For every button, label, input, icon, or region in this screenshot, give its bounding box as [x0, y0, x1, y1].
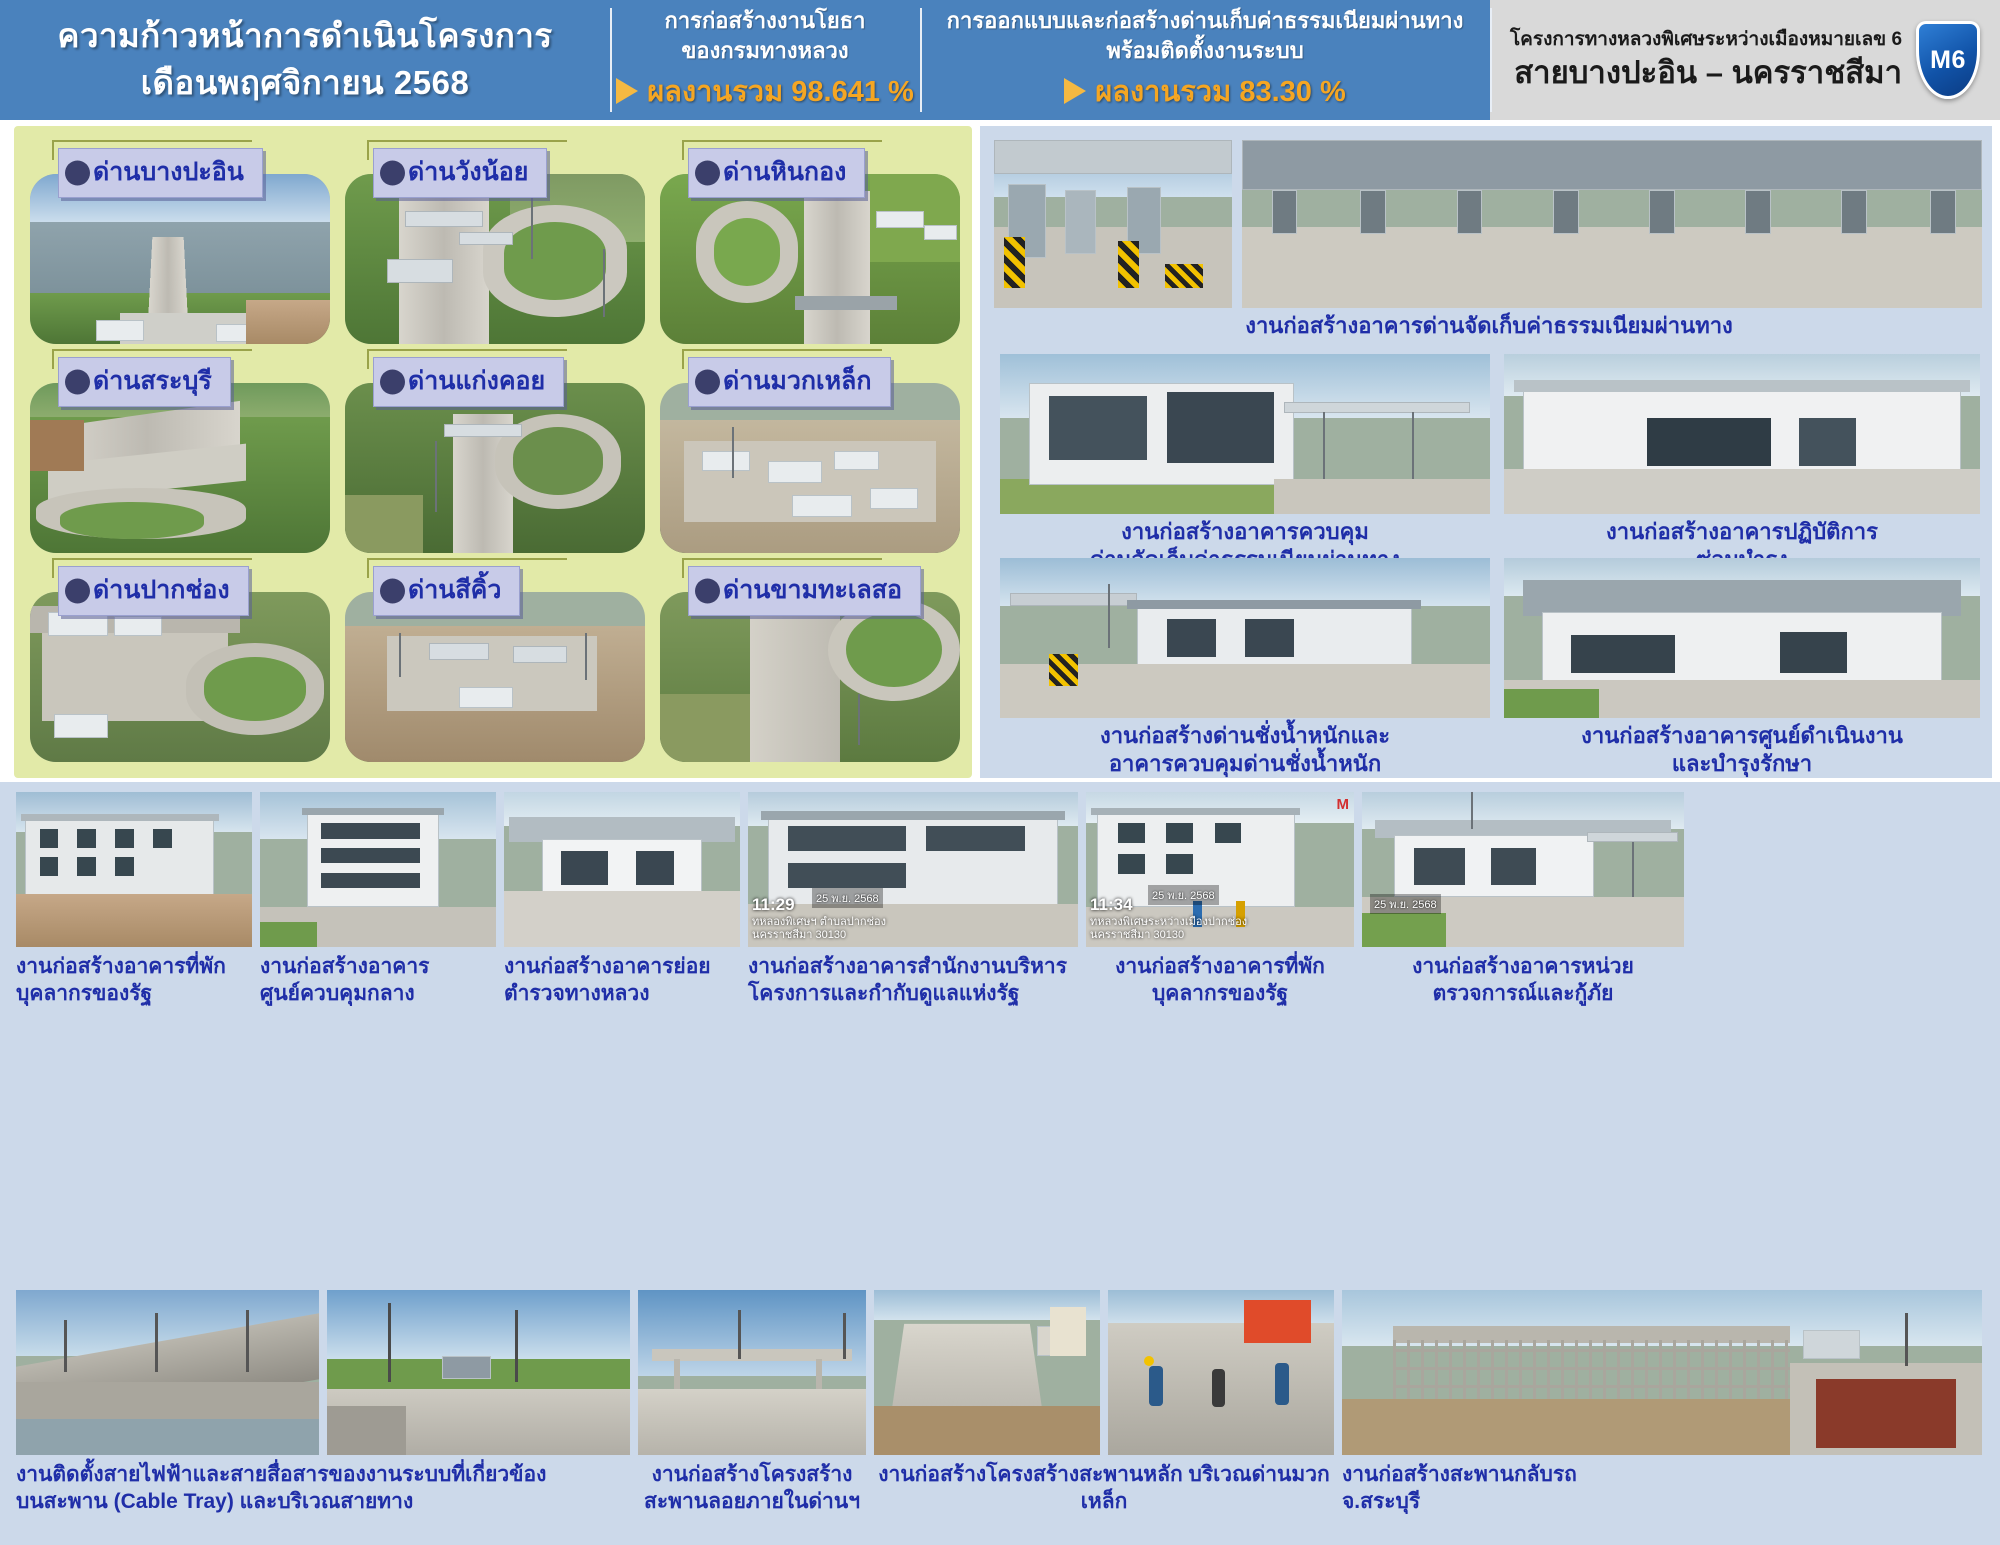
roadside-cable-photo	[327, 1290, 630, 1455]
building-item: งานก่อสร้างอาคาร ศูนย์ควบคุมกลาง	[260, 792, 496, 1008]
uturn-bridge-caption-line1: งานก่อสร้างสะพานกลับรถ	[1342, 1461, 1982, 1488]
operations-center-photo	[1504, 558, 1980, 718]
staff-housing-caption-line1: งานก่อสร้างอาคารที่พัก	[16, 953, 252, 980]
timestamp-date: 25 พ.ย. 2568	[1148, 885, 1219, 905]
stat1-value-row: ผลงานรวม 98.641 %	[616, 68, 914, 114]
bullet-dot-icon	[380, 579, 405, 604]
bullet-dot-icon	[65, 370, 90, 395]
highway-police-photo	[504, 792, 740, 947]
control-building-item: งานก่อสร้างอาคารควบคุม ด่านจัดเก็บค่าธรร…	[1000, 354, 1490, 573]
rescue-unit-caption-line2: ตรวจการณ์และกู้ภัย	[1362, 980, 1684, 1007]
central-control-caption-line2: ศูนย์ควบคุมกลาง	[260, 980, 496, 1007]
toll-gate-label: ด่านสีคิ้ว	[373, 566, 520, 616]
brand-project-line: โครงการทางหลวงพิเศษระหว่างเมืองหมายเลข 6	[1510, 27, 1902, 54]
weigh-station-photo	[1000, 558, 1490, 718]
building-item: 25 พ.ย. 2568 งานก่อสร้างอาคารหน่วย ตรวจก…	[1362, 792, 1684, 1008]
building-works-row: งานก่อสร้างอาคารที่พัก บุคลากรของรัฐ งาน…	[16, 792, 1684, 1008]
photo-pair	[874, 1290, 1334, 1455]
building-item: งานก่อสร้างอาคารที่พัก บุคลากรของรัฐ	[16, 792, 252, 1008]
toll-gate-photo	[30, 174, 330, 344]
m6-shield-icon: M6	[1916, 21, 1980, 99]
toll-gate-name: ด่านหินกอง	[723, 152, 846, 192]
bullet-dot-icon	[695, 579, 720, 604]
header-title-line1: ความก้าวหน้าการดำเนินโครงการ	[57, 13, 552, 60]
header-stat-toll-systems: การออกแบบและก่อสร้างด่านเก็บค่าธรรมเนียม…	[920, 0, 1490, 120]
uturn-bridge-photo	[1342, 1290, 1982, 1455]
overpass-caption-line2: สะพานลอยภายในด่านฯ	[638, 1488, 866, 1515]
stat1-label-line1: การก่อสร้างงานโยธา	[665, 6, 866, 36]
toll-gate-name: ด่านแก่งคอย	[408, 361, 545, 401]
brand-route-line: สายบางปะอิน – นครราชสีมา	[1510, 53, 1902, 93]
toll-gate-name: ด่านมวกเหล็ก	[723, 361, 872, 401]
building-item: M 11:34 ทหลวงพิเศษระหว่างเมืองปากช่อง นค…	[1086, 792, 1354, 1008]
stat1-value: ผลงานรวม 98.641 %	[647, 68, 914, 114]
weigh-station-caption-line1: งานก่อสร้างด่านชั่งน้ำหนักและ	[1000, 722, 1490, 750]
toll-gate-label: ด่านสระบุรี	[58, 357, 231, 407]
toll-gate-label: ด่านปากช่อง	[58, 566, 249, 616]
toll-overpass-photo	[638, 1290, 866, 1455]
photo-pair: งานก่อสร้างด่านชั่งน้ำหนักและ อาคารควบคุ…	[1000, 558, 1980, 777]
timestamp-place2: นครราชสีมา 30130	[1090, 929, 1247, 943]
header-brand-cell: โครงการทางหลวงพิเศษระหว่างเมืองหมายเลข 6…	[1490, 0, 2000, 120]
staff-housing2-caption-line1: งานก่อสร้างอาคารที่พัก	[1086, 953, 1354, 980]
toll-gate-label: ด่านบางปะอิน	[58, 148, 263, 198]
toll-gate-name: ด่านบางปะอิน	[93, 152, 244, 192]
timestamp-date: 25 พ.ย. 2568	[1370, 894, 1441, 914]
toll-building-row-2: งานก่อสร้างอาคารควบคุม ด่านจัดเก็บค่าธรร…	[1000, 354, 1980, 573]
stat1-label-line2: ของกรมทางหลวง	[681, 36, 848, 66]
staff-housing2-caption-line2: บุคลากรของรัฐ	[1086, 980, 1354, 1007]
infrastructure-works-band: งานติดตั้งสายไฟฟ้าและสายสื่อสารของงานระบ…	[0, 1282, 2000, 1545]
toll-building-panel: งานก่อสร้างอาคารด่านจัดเก็บค่าธรรมเนียมผ…	[980, 126, 1992, 778]
toll-gate-photo	[660, 592, 960, 762]
building-works-band: งานก่อสร้างอาคารที่พัก บุคลากรของรัฐ งาน…	[0, 782, 2000, 1282]
infrastructure-works-row: งานติดตั้งสายไฟฟ้าและสายสื่อสารของงานระบ…	[16, 1290, 1982, 1516]
toll-gate-cell: ด่านแก่งคอย	[345, 357, 645, 553]
toll-gate-cell: ด่านปากช่อง	[30, 566, 330, 762]
stat2-label-line1: การออกแบบและก่อสร้างด่านเก็บค่าธรรมเนียม…	[947, 6, 1464, 36]
infographic-page: ความก้าวหน้าการดำเนินโครงการ เดือนพฤศจิก…	[0, 0, 2000, 1545]
triangle-marker-icon	[616, 78, 638, 104]
timestamp-place1: ทหลวงพิเศษระหว่างเมืองปากช่อง	[1090, 916, 1247, 930]
admin-office-caption-line2: โครงการและกำกับดูแลแห่งรัฐ	[748, 980, 1078, 1007]
weigh-station-item: งานก่อสร้างด่านชั่งน้ำหนักและ อาคารควบคุ…	[1000, 558, 1490, 777]
toll-gate-photo	[660, 174, 960, 344]
uturn-bridge-caption-line2: จ.สระบุรี	[1342, 1488, 1982, 1515]
cable-tray-caption-line2: บนสะพาน (Cable Tray) และบริเวณสายทาง	[16, 1488, 630, 1515]
toll-building-row-3: งานก่อสร้างด่านชั่งน้ำหนักและ อาคารควบคุ…	[1000, 558, 1980, 777]
toll-gate-grid: ด่านบางปะอิน	[30, 148, 960, 762]
admin-office-photo: 11:29 ทหลองพิเศษฯ ตำบลปากช่อง นครราชสีมา…	[748, 792, 1078, 947]
bridge-cable-tray-photo	[16, 1290, 319, 1455]
bullet-dot-icon	[695, 370, 720, 395]
bullet-dot-icon	[380, 370, 405, 395]
toll-gate-name: ด่านวังน้อย	[408, 152, 528, 192]
toll-building-caption-1: งานก่อสร้างอาคารด่านจัดเก็บค่าธรรมเนียมผ…	[994, 312, 1984, 340]
toll-gate-cell: ด่านมวกเหล็ก	[660, 357, 960, 553]
maintenance-building-caption-line1: งานก่อสร้างอาคารปฏิบัติการ	[1504, 518, 1980, 546]
toll-gate-photo	[345, 383, 645, 553]
main-bridge-caption-line1: งานก่อสร้างโครงสร้างสะพานหลัก บริเวณด่าน…	[874, 1461, 1334, 1516]
control-building-photo	[1000, 354, 1490, 514]
rescue-unit-photo: 25 พ.ย. 2568	[1362, 792, 1684, 947]
toll-gate-photo	[30, 592, 330, 762]
staff-housing-caption-line2: บุคลากรของรัฐ	[16, 980, 252, 1007]
timestamp-time: 11:29	[752, 895, 795, 914]
toll-gate-cell: ด่านหินกอง	[660, 148, 960, 344]
maintenance-building-item: งานก่อสร้างอาคารปฏิบัติการ ซ่อมบำรุง	[1504, 354, 1980, 573]
mo-logo-icon: M	[1337, 796, 1349, 813]
uturn-bridge-item: งานก่อสร้างสะพานกลับรถ จ.สระบุรี	[1342, 1290, 1982, 1516]
rescue-unit-caption-line1: งานก่อสร้างอาคารหน่วย	[1362, 953, 1684, 980]
timestamp-time: 11:34	[1090, 895, 1133, 914]
toll-gate-photo	[345, 592, 645, 762]
toll-gate-panel: ด่านบางปะอิน	[14, 126, 972, 778]
staff-housing-photo-1	[16, 792, 252, 947]
staff-housing-photo-2: M 11:34 ทหลวงพิเศษระหว่างเมืองปากช่อง นค…	[1086, 792, 1354, 947]
highway-police-caption-line1: งานก่อสร้างอาคารย่อย	[504, 953, 740, 980]
operations-center-caption-line2: และบำรุงรักษา	[1504, 750, 1980, 778]
toll-gate-label: ด่านแก่งคอย	[373, 357, 564, 407]
toll-gate-label: ด่านหินกอง	[688, 148, 865, 198]
toll-gate-label: ด่านมวกเหล็ก	[688, 357, 891, 407]
toll-booth-photo	[994, 140, 1232, 308]
overpass-item: งานก่อสร้างโครงสร้าง สะพานลอยภายในด่านฯ	[638, 1290, 866, 1516]
header-stat-civil-works: การก่อสร้างงานโยธา ของกรมทางหลวง ผลงานรว…	[610, 0, 920, 120]
toll-gate-cell: ด่านขามทะเลสอ	[660, 566, 960, 762]
central-control-photo	[260, 792, 496, 947]
main-bridge-item: งานก่อสร้างโครงสร้างสะพานหลัก บริเวณด่าน…	[874, 1290, 1334, 1516]
bullet-dot-icon	[695, 161, 720, 186]
stat2-value: ผลงานรวม 83.30 %	[1095, 68, 1345, 114]
toll-gate-photo	[30, 383, 330, 553]
toll-gate-name: ด่านขามทะเลสอ	[723, 570, 902, 610]
central-control-caption-line1: งานก่อสร้างอาคาร	[260, 953, 496, 980]
building-item: 11:29 ทหลองพิเศษฯ ตำบลปากช่อง นครราชสีมา…	[748, 792, 1078, 1008]
highway-police-caption-line2: ตำรวจทางหลวง	[504, 980, 740, 1007]
maintenance-building-photo	[1504, 354, 1980, 514]
toll-gate-cell: ด่านสีคิ้ว	[345, 566, 645, 762]
bullet-dot-icon	[380, 161, 405, 186]
control-building-caption-line1: งานก่อสร้างอาคารควบคุม	[1000, 518, 1490, 546]
timestamp-place1: ทหลองพิเศษฯ ตำบลปากช่อง	[752, 916, 886, 930]
header-title-line2: เดือนพฤศจิกายน 2568	[141, 60, 470, 107]
toll-gate-name: ด่านปากช่อง	[93, 570, 230, 610]
toll-building-row-1: งานก่อสร้างอาคารด่านจัดเก็บค่าธรรมเนียมผ…	[994, 140, 1984, 340]
toll-plaza-photo	[1242, 140, 1982, 308]
building-item: งานก่อสร้างอาคารย่อย ตำรวจทางหลวง	[504, 792, 740, 1008]
toll-gate-label: ด่านวังน้อย	[373, 148, 547, 198]
weigh-station-caption-line2: อาคารควบคุมด่านชั่งน้ำหนัก	[1000, 750, 1490, 778]
concrete-pour-photo	[1108, 1290, 1334, 1455]
cable-tray-caption-line1: งานติดตั้งสายไฟฟ้าและสายสื่อสารของงานระบ…	[16, 1461, 630, 1488]
admin-office-caption-line1: งานก่อสร้างอาคารสำนักงานบริหาร	[748, 953, 1078, 980]
stat2-value-row: ผลงานรวม 83.30 %	[1064, 68, 1345, 114]
operations-center-item: งานก่อสร้างอาคารศูนย์ดำเนินงาน และบำรุงร…	[1504, 558, 1980, 777]
photo-pair	[994, 140, 1984, 308]
cable-tray-item: งานติดตั้งสายไฟฟ้าและสายสื่อสารของงานระบ…	[16, 1290, 630, 1516]
toll-gate-name: ด่านสระบุรี	[93, 361, 212, 401]
toll-gate-photo	[345, 174, 645, 344]
toll-gate-cell: ด่านวังน้อย	[345, 148, 645, 344]
toll-gate-cell: ด่านสระบุรี	[30, 357, 330, 553]
header-title-cell: ความก้าวหน้าการดำเนินโครงการ เดือนพฤศจิก…	[0, 0, 610, 120]
overpass-caption-line1: งานก่อสร้างโครงสร้าง	[638, 1461, 866, 1488]
timestamp-date: 25 พ.ย. 2568	[812, 888, 883, 908]
bridge-structure-photo	[874, 1290, 1100, 1455]
photo-pair	[16, 1290, 630, 1455]
header-bar: ความก้าวหน้าการดำเนินโครงการ เดือนพฤศจิก…	[0, 0, 2000, 120]
operations-center-caption-line1: งานก่อสร้างอาคารศูนย์ดำเนินงาน	[1504, 722, 1980, 750]
toll-gate-photo	[660, 383, 960, 553]
photo-pair: งานก่อสร้างอาคารควบคุม ด่านจัดเก็บค่าธรร…	[1000, 354, 1980, 573]
timestamp-place2: นครราชสีมา 30130	[752, 929, 886, 943]
triangle-marker-icon	[1064, 78, 1086, 104]
toll-gate-name: ด่านสีคิ้ว	[408, 570, 501, 610]
stat2-label-line2: พร้อมติดตั้งงานระบบ	[1106, 36, 1303, 66]
toll-gate-cell: ด่านบางปะอิน	[30, 148, 330, 344]
bullet-dot-icon	[65, 579, 90, 604]
shield-label: M6	[1930, 46, 1966, 75]
bullet-dot-icon	[65, 161, 90, 186]
brand-text: โครงการทางหลวงพิเศษระหว่างเมืองหมายเลข 6…	[1510, 27, 1902, 94]
toll-gate-label: ด่านขามทะเลสอ	[688, 566, 921, 616]
